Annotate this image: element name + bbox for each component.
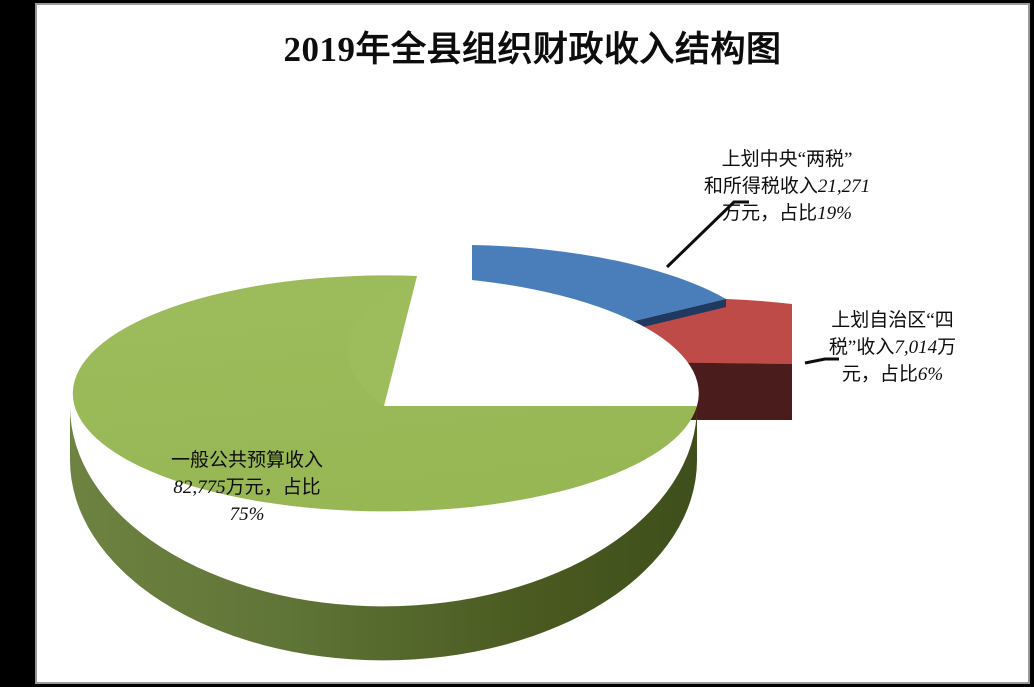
label-central-line3: 万元，占比19%: [662, 201, 912, 228]
label-general-line1: 一般公共预算收入: [132, 448, 362, 475]
label-autonomous-line2: 税”收入7,014万: [800, 335, 985, 362]
label-autonomous-line3: 元，占比6%: [800, 362, 985, 389]
label-central-line1: 上划中央“两税”: [662, 147, 912, 174]
label-central-line2: 和所得税收入21,271: [662, 174, 912, 201]
label-general-line3: 75%: [132, 502, 362, 529]
data-label-central-tax: 上划中央“两税” 和所得税收入21,271 万元，占比19%: [662, 147, 912, 228]
outer-black-band: [0, 0, 36, 687]
label-autonomous-line1: 上划自治区“四: [800, 308, 985, 335]
data-label-autonomous-tax: 上划自治区“四 税”收入7,014万 元，占比6%: [800, 308, 985, 389]
label-general-line2: 82,775万元，占比: [132, 475, 362, 502]
chart-frame: 2019年全县组织财政收入结构图: [35, 3, 1030, 684]
data-label-general-budget: 一般公共预算收入 82,775万元，占比 75%: [132, 448, 362, 529]
